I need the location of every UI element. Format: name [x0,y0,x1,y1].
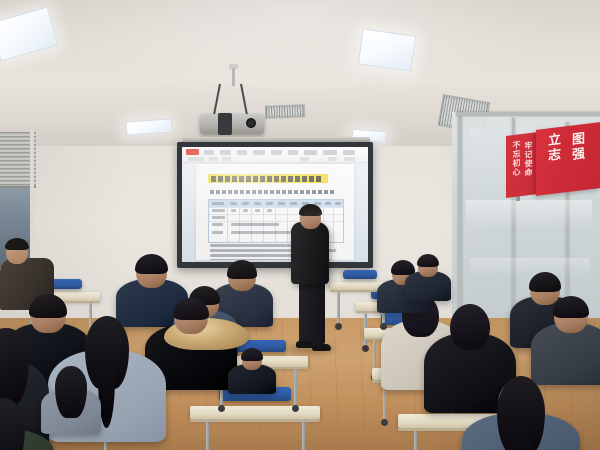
attendee-hair [55,366,87,418]
classroom-photo: 不忘初心 牢记使命 立志 图强 [0,0,600,450]
attendee-left-small [0,0,600,450]
